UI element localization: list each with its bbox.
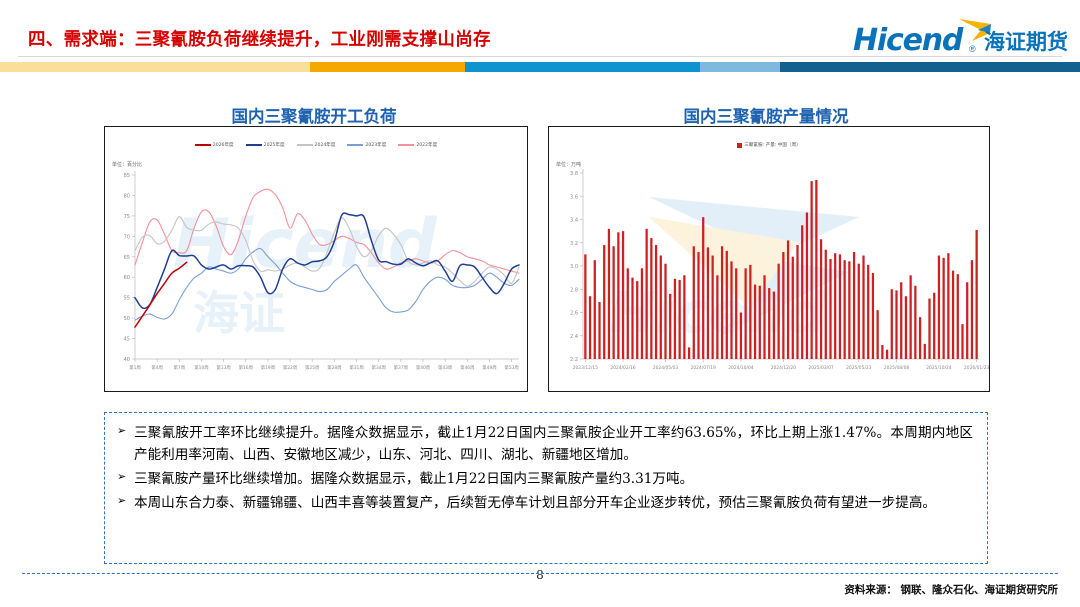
svg-text:2024/07/19: 2024/07/19 xyxy=(691,365,717,371)
band-segment-3 xyxy=(700,62,780,72)
chart2-plot-area: 2.22.42.62.83.03.23.43.63.82023/12/15202… xyxy=(549,127,989,391)
page-number: 8 xyxy=(0,568,1080,582)
svg-text:3.0: 3.0 xyxy=(570,264,578,270)
logo-wordmark: Hicend xyxy=(853,23,962,58)
svg-text:2024/05/03: 2024/05/03 xyxy=(653,365,679,371)
svg-text:2025/03/07: 2025/03/07 xyxy=(808,365,834,371)
svg-text:第19周: 第19周 xyxy=(261,364,275,371)
svg-text:45: 45 xyxy=(124,337,130,343)
bullet-arrow-icon: ➢ xyxy=(117,422,134,441)
svg-text:55: 55 xyxy=(124,296,130,302)
svg-text:80: 80 xyxy=(124,193,130,199)
hicend-logo: Hicend ® 海证期货 xyxy=(853,17,1068,57)
svg-text:第13周: 第13周 xyxy=(216,364,230,371)
svg-text:70: 70 xyxy=(124,234,130,240)
svg-text:2.4: 2.4 xyxy=(570,334,578,340)
chart-output: Hicend 三聚氰胺: 产量: 中国（周） 单位：万吨 2.22.42.62.… xyxy=(548,126,990,392)
svg-text:85: 85 xyxy=(124,173,130,179)
band-segment-0 xyxy=(0,62,310,72)
svg-text:2.2: 2.2 xyxy=(570,357,578,363)
svg-text:2.8: 2.8 xyxy=(570,287,578,293)
svg-text:3.8: 3.8 xyxy=(570,171,578,177)
svg-text:第25周: 第25周 xyxy=(305,364,319,371)
svg-text:3.2: 3.2 xyxy=(570,241,578,247)
svg-text:第40周: 第40周 xyxy=(416,364,430,371)
bullet-arrow-icon: ➢ xyxy=(117,492,134,511)
svg-text:第37周: 第37周 xyxy=(394,364,408,371)
svg-text:第10周: 第10周 xyxy=(194,364,208,371)
band-segment-1 xyxy=(310,62,465,72)
svg-text:2025/08/08: 2025/08/08 xyxy=(884,365,910,371)
page-header: 四、需求端：三聚氰胺负荷继续提升，工业刚需支撑山尚存 Hicend ® 海证期货 xyxy=(0,0,1080,74)
chart1-plot-area: 40455055606570758085第1周第4周第7周第10周第13周第16… xyxy=(105,127,527,391)
bullet-item: ➢ 三聚氰胺开工率环比继续提升。据隆众数据显示，截止1月22日国内三聚氰胺企业开… xyxy=(117,422,973,466)
svg-text:50: 50 xyxy=(124,316,130,322)
svg-text:第46周: 第46周 xyxy=(460,364,474,371)
svg-text:2026/01/23: 2026/01/23 xyxy=(964,365,989,371)
svg-text:2025/10/24: 2025/10/24 xyxy=(926,365,952,371)
band-segment-4 xyxy=(780,62,1080,72)
svg-text:2024/10/04: 2024/10/04 xyxy=(728,365,754,371)
svg-text:65: 65 xyxy=(124,255,130,261)
svg-text:2023/12/15: 2023/12/15 xyxy=(573,365,599,371)
svg-text:第28周: 第28周 xyxy=(327,364,341,371)
svg-text:2024/12/20: 2024/12/20 xyxy=(771,365,797,371)
svg-text:2.6: 2.6 xyxy=(570,311,578,317)
bullet-text: 本周山东合力泰、新疆锦疆、山西丰喜等装置复产，后续暂无停车计划且部分开车企业逐步… xyxy=(134,492,973,514)
svg-text:第53周: 第53周 xyxy=(504,364,518,371)
svg-text:第4周: 第4周 xyxy=(151,364,163,371)
svg-text:第49周: 第49周 xyxy=(482,364,496,371)
svg-text:第1周: 第1周 xyxy=(129,364,141,371)
page-title: 四、需求端：三聚氰胺负荷继续提升，工业刚需支撑山尚存 xyxy=(28,26,491,51)
logo-registered-mark: ® xyxy=(969,44,976,54)
bullet-item: ➢ 本周山东合力泰、新疆锦疆、山西丰喜等装置复产，后续暂无停车计划且部分开车企业… xyxy=(117,492,973,514)
footer-divider xyxy=(22,573,1058,575)
band-segment-2 xyxy=(465,62,700,72)
bullet-arrow-icon: ➢ xyxy=(117,468,134,487)
svg-text:第7周: 第7周 xyxy=(174,364,186,371)
bullet-text: 三聚氰胺产量环比继续增加。据隆众数据显示，截止1月22日国内三聚氰胺产量约3.3… xyxy=(134,468,973,490)
svg-text:第43周: 第43周 xyxy=(438,364,452,371)
svg-text:75: 75 xyxy=(124,214,130,220)
chart-operating-load: Hicend 海证 2026年度2025年度2024年度2023年度2022年度… xyxy=(104,126,528,392)
svg-text:2024/02/16: 2024/02/16 xyxy=(610,365,636,371)
bullet-item: ➢ 三聚氰胺产量环比继续增加。据隆众数据显示，截止1月22日国内三聚氰胺产量约3… xyxy=(117,468,973,490)
chart-title-operating-load: 国内三聚氰胺开工负荷 xyxy=(104,103,524,127)
analysis-textbox: ➢ 三聚氰胺开工率环比继续提升。据隆众数据显示，截止1月22日国内三聚氰胺企业开… xyxy=(104,412,988,564)
source-note: 资料来源： 钢联、隆众石化、海证期货研究所 xyxy=(844,582,1058,597)
svg-text:60: 60 xyxy=(124,275,130,281)
header-color-band xyxy=(0,62,1080,72)
svg-text:40: 40 xyxy=(124,357,130,363)
svg-text:第16周: 第16周 xyxy=(239,364,253,371)
svg-text:第34周: 第34周 xyxy=(372,364,386,371)
svg-text:第22周: 第22周 xyxy=(283,364,297,371)
svg-text:3.6: 3.6 xyxy=(570,194,578,200)
chart-title-output: 国内三聚氰胺产量情况 xyxy=(556,103,976,127)
svg-text:第31周: 第31周 xyxy=(349,364,363,371)
svg-text:2025/05/23: 2025/05/23 xyxy=(846,365,872,371)
svg-text:3.4: 3.4 xyxy=(570,218,578,224)
logo-chinese-name: 海证期货 xyxy=(984,26,1068,56)
bullet-text: 三聚氰胺开工率环比继续提升。据隆众数据显示，截止1月22日国内三聚氰胺企业开工率… xyxy=(134,422,973,466)
